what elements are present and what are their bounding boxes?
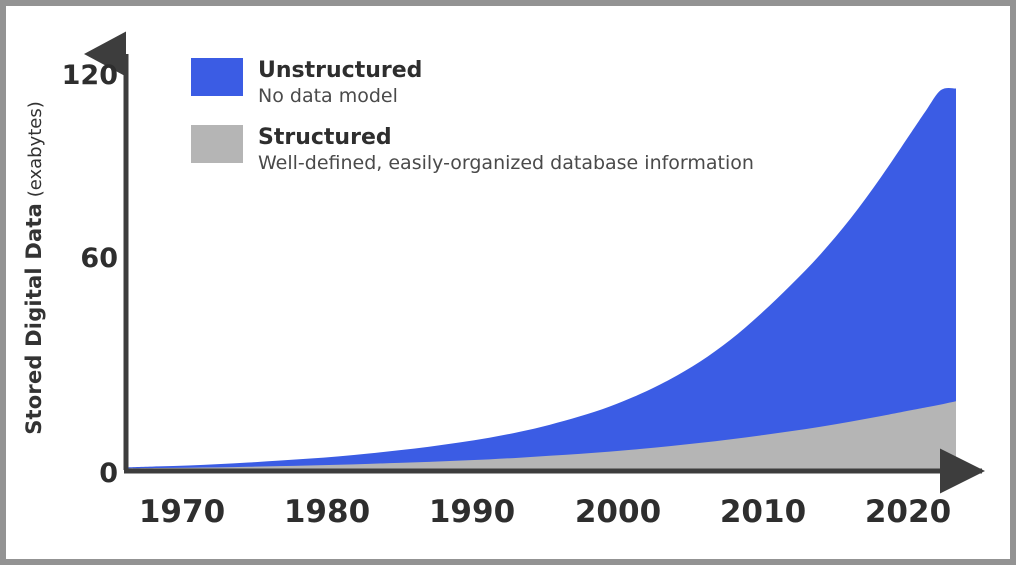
x-tick-2000: 2000 xyxy=(548,494,688,530)
x-tick-2010: 2010 xyxy=(693,494,833,530)
y-tick-0: 0 xyxy=(48,458,118,489)
chart-figure: Stored Digital Data (exabytes) 0 60 120 … xyxy=(0,0,1016,565)
legend-item-unstructured: Unstructured No data model xyxy=(191,58,754,107)
legend-text-unstructured: Unstructured No data model xyxy=(258,58,422,107)
legend-swatch-structured xyxy=(191,125,243,163)
legend-label-structured: Structured xyxy=(258,126,754,151)
legend-sublabel-unstructured: No data model xyxy=(258,86,422,107)
y-tick-60: 60 xyxy=(48,243,118,274)
legend-text-structured: Structured Well-defined, easily-organize… xyxy=(258,125,754,174)
x-tick-2020: 2020 xyxy=(838,494,978,530)
legend-item-structured: Structured Well-defined, easily-organize… xyxy=(191,125,754,174)
y-tick-120: 120 xyxy=(48,60,118,91)
legend-swatch-unstructured xyxy=(191,58,243,96)
legend-label-unstructured: Unstructured xyxy=(258,59,422,84)
x-tick-1970: 1970 xyxy=(112,494,252,530)
chart-legend: Unstructured No data model Structured We… xyxy=(191,58,754,192)
y-axis-tick-labels: 0 60 120 xyxy=(40,6,118,559)
legend-sublabel-structured: Well-defined, easily-organized database … xyxy=(258,153,754,174)
x-tick-1980: 1980 xyxy=(257,494,397,530)
x-tick-1990: 1990 xyxy=(402,494,542,530)
